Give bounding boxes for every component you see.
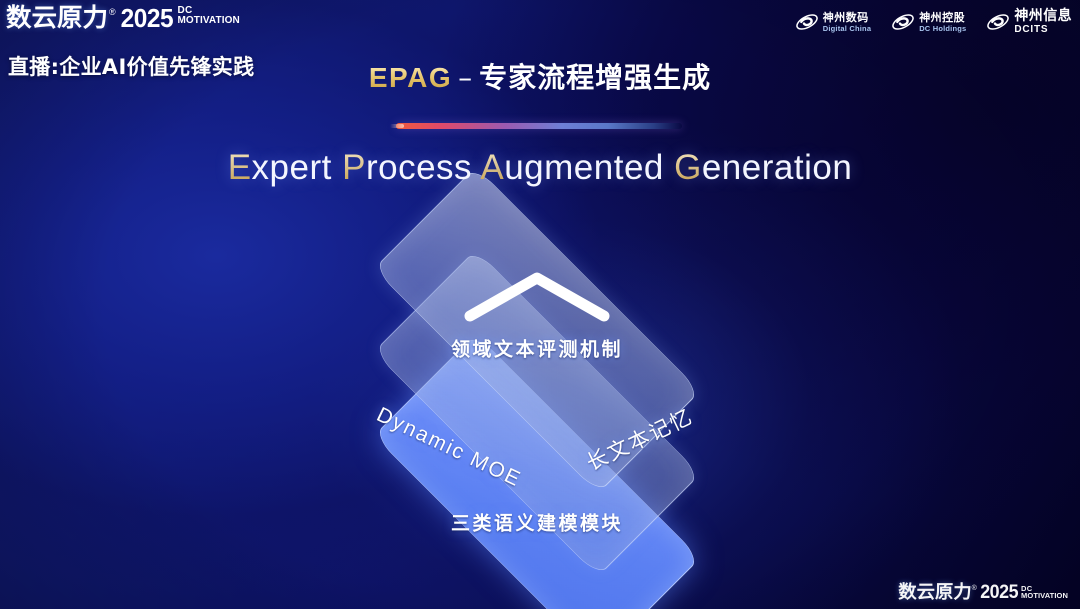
- brand-dc-top: DC: [178, 6, 240, 15]
- partner-logo-dcits: 神州信息 DCITS: [986, 9, 1072, 35]
- subtitle-cap-e: E: [228, 148, 252, 187]
- swirl-logo-icon: [986, 10, 1010, 34]
- subtitle-rest-expert: xpert: [252, 148, 332, 187]
- partner-name-en: DCITS: [1014, 25, 1072, 35]
- swirl-logo-icon: [795, 10, 819, 34]
- partner-logo-group: 神州数码 Digital China 神州控股 DC Holdings: [795, 9, 1072, 35]
- watermark-year: 2025: [980, 583, 1018, 603]
- subtitle-rest-process: rocess: [366, 148, 472, 187]
- partner-text: 神州数码 Digital China: [823, 12, 871, 33]
- brand-logo-year: 2025: [120, 4, 172, 32]
- partner-name-en: DC Holdings: [919, 25, 966, 33]
- swirl-logo-icon: [891, 10, 915, 34]
- watermark-registered-mark: ®: [972, 584, 977, 593]
- brand-logo-cn: 数云原力: [6, 4, 108, 32]
- brand-logo-dc: DC MOTIVATION: [178, 6, 240, 26]
- partner-name-cn: 神州信息: [1014, 9, 1072, 23]
- subtitle-cap-g: G: [674, 148, 702, 187]
- subtitle-word-process: Process: [342, 148, 472, 187]
- partner-name-en: Digital China: [823, 25, 871, 33]
- subtitle-rest-generation: eneration: [702, 148, 852, 187]
- subtitle-rest-augmented: ugmented: [504, 148, 664, 187]
- live-stream-label: 直播:企业AI价值先锋实践: [8, 51, 254, 81]
- subtitle-expansion: Expert Process Augmented Generation: [0, 148, 1080, 188]
- header-bar: 数云原力 ® 2025 DC MOTIVATION: [0, 0, 1080, 46]
- gradient-divider: [396, 123, 682, 129]
- partner-logo-digital-china: 神州数码 Digital China: [795, 10, 871, 34]
- brand-registered-mark: ®: [109, 6, 116, 18]
- watermark-dc-bottom: MOTIVATION: [1021, 592, 1068, 600]
- subtitle-cap-a: A: [480, 148, 504, 187]
- footer-watermark-logo: 数云原力 ® 2025 DC MOTIVATION: [899, 583, 1068, 603]
- subtitle-word-augmented: Augmented: [480, 148, 664, 187]
- brand-dc-bottom: MOTIVATION: [178, 15, 240, 26]
- subtitle-word-expert: Expert: [228, 148, 332, 187]
- partner-text: 神州信息 DCITS: [1014, 9, 1072, 35]
- partner-text: 神州控股 DC Holdings: [919, 12, 966, 33]
- watermark-cn: 数云原力: [898, 583, 971, 603]
- watermark-dc: DC MOTIVATION: [1021, 585, 1068, 600]
- brand-logo: 数云原力 ® 2025 DC MOTIVATION: [7, 4, 240, 32]
- title-chinese: 专家流程增强生成: [479, 61, 711, 94]
- subtitle-word-generation: Generation: [674, 148, 852, 187]
- partner-name-cn: 神州控股: [919, 12, 966, 23]
- title-separator: –: [458, 61, 473, 94]
- subtitle-cap-p: P: [342, 148, 366, 187]
- slide-canvas: 数云原力 ® 2025 DC MOTIVATION: [0, 0, 1080, 609]
- title-acronym: EPAG: [369, 62, 452, 93]
- partner-logo-dc-holdings: 神州控股 DC Holdings: [891, 10, 966, 34]
- partner-name-cn: 神州数码: [823, 12, 871, 23]
